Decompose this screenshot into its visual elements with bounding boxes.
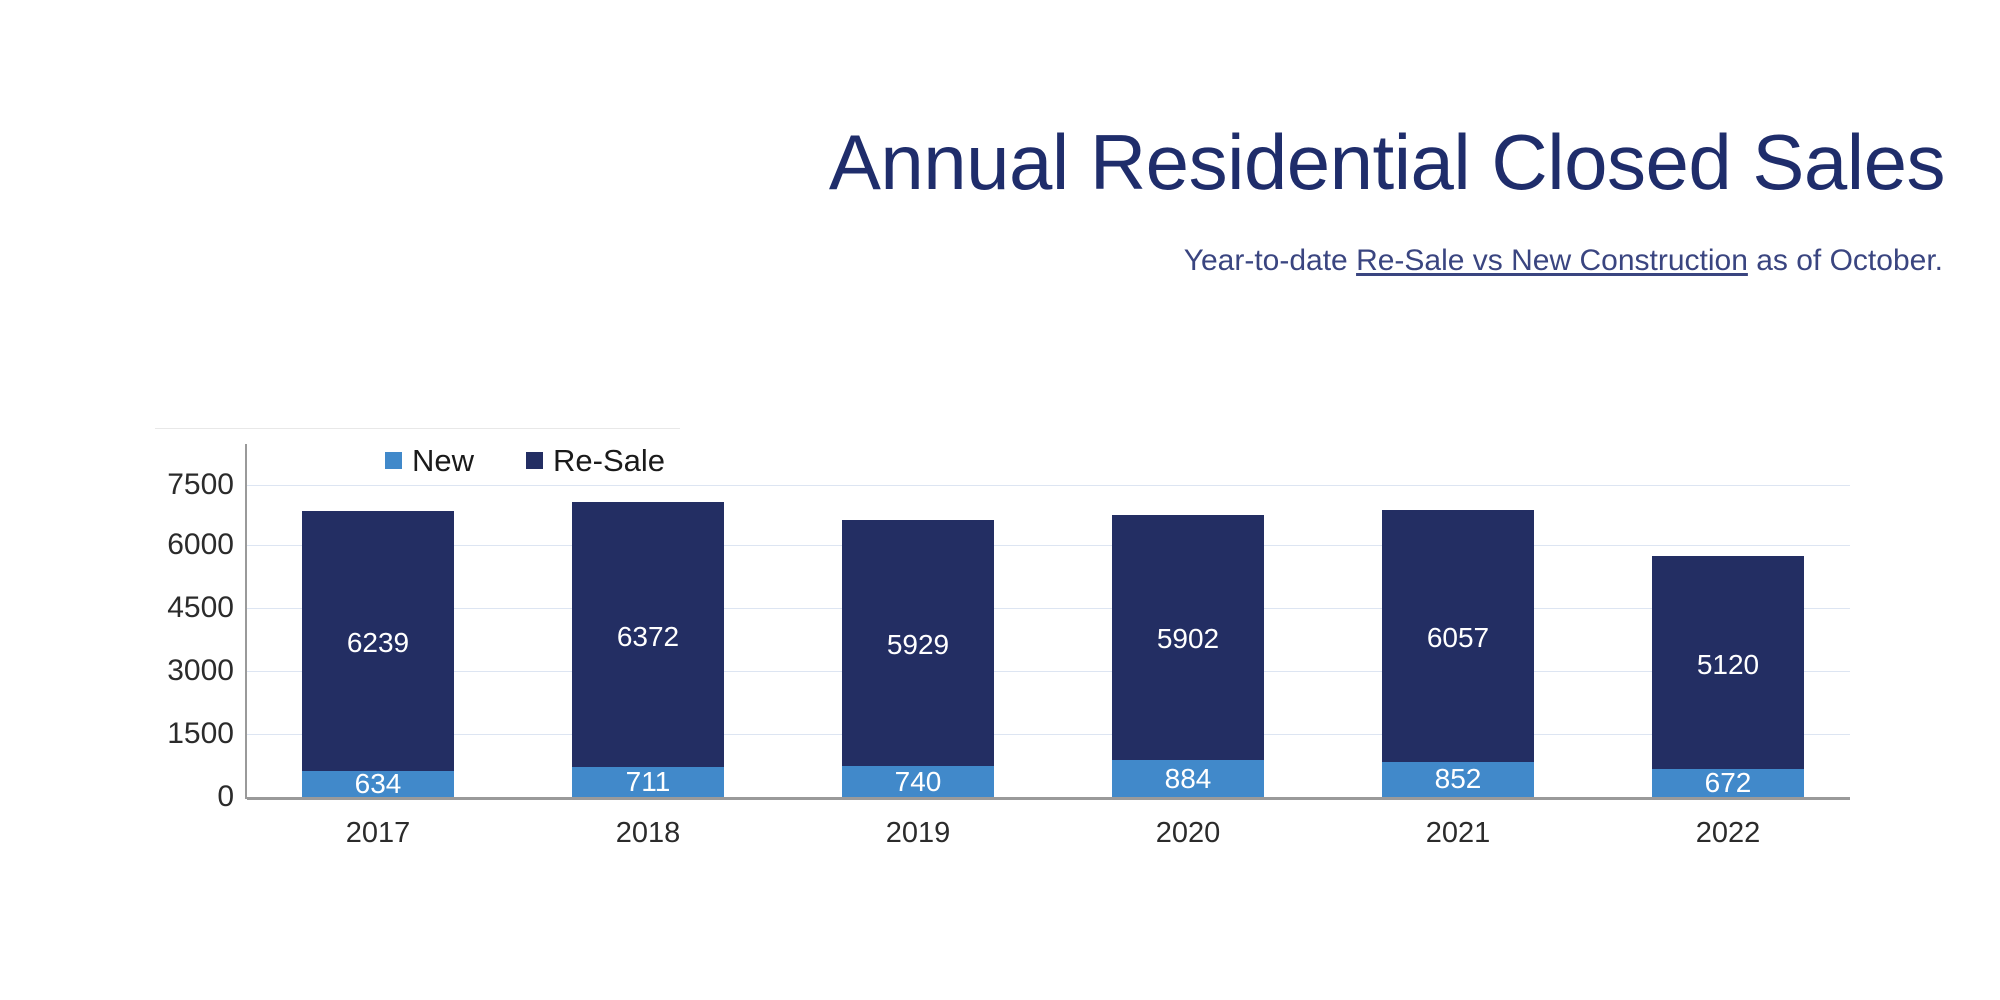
bar-value-resale-2020: 5902 <box>1157 625 1219 653</box>
gridline-3000 <box>247 671 1850 672</box>
bar-segment-resale-2022[interactable]: 5120 <box>1652 556 1804 769</box>
bar-value-new-2022: 672 <box>1705 769 1752 797</box>
bar-value-new-2017: 634 <box>355 770 402 798</box>
y-tick-label-0: 0 <box>217 780 234 814</box>
bar-segment-resale-2020[interactable]: 5902 <box>1112 515 1264 761</box>
bar-value-new-2020: 884 <box>1165 765 1212 793</box>
bar-group-2021[interactable]: 6057852 <box>1382 510 1534 797</box>
x-tick-label-2017: 2017 <box>302 817 454 850</box>
y-tick-label-6000: 6000 <box>167 528 234 562</box>
bar-segment-new-2021[interactable]: 852 <box>1382 762 1534 797</box>
x-tick-label-2020: 2020 <box>1112 817 1264 850</box>
y-tick-label-4500: 4500 <box>167 591 234 625</box>
x-tick-label-2022: 2022 <box>1652 817 1804 850</box>
y-tick-label-3000: 3000 <box>167 654 234 688</box>
bar-value-resale-2021: 6057 <box>1427 624 1489 652</box>
bar-group-2019[interactable]: 5929740 <box>842 520 994 797</box>
y-tick-label-7500: 7500 <box>167 468 234 502</box>
bar-value-new-2021: 852 <box>1435 765 1482 793</box>
gridline-1500 <box>247 734 1850 735</box>
x-tick-label-2019: 2019 <box>842 817 994 850</box>
bar-value-new-2019: 740 <box>895 768 942 796</box>
legend-item-resale[interactable]: Re-Sale <box>526 445 665 476</box>
bar-segment-new-2022[interactable]: 672 <box>1652 769 1804 797</box>
legend-swatch-new-icon <box>385 452 402 469</box>
bar-segment-new-2017[interactable]: 634 <box>302 771 454 797</box>
axis-baseline <box>247 797 1850 800</box>
bar-segment-resale-2021[interactable]: 6057 <box>1382 510 1534 762</box>
bar-segment-resale-2018[interactable]: 6372 <box>572 502 724 767</box>
x-tick-label-2018: 2018 <box>572 817 724 850</box>
bar-value-resale-2022: 5120 <box>1697 651 1759 679</box>
bar-group-2022[interactable]: 5120672 <box>1652 556 1804 797</box>
bar-value-resale-2018: 6372 <box>617 623 679 651</box>
bar-segment-resale-2019[interactable]: 5929 <box>842 520 994 767</box>
bar-group-2018[interactable]: 6372711 <box>572 502 724 797</box>
bar-segment-new-2019[interactable]: 740 <box>842 766 994 797</box>
bar-segment-resale-2017[interactable]: 6239 <box>302 511 454 771</box>
gridline-7500 <box>247 485 1850 486</box>
bar-segment-new-2018[interactable]: 711 <box>572 767 724 797</box>
bar-segment-new-2020[interactable]: 884 <box>1112 760 1264 797</box>
chart-legend: New Re-Sale <box>385 445 665 476</box>
bar-value-new-2018: 711 <box>626 768 671 796</box>
x-tick-label-2021: 2021 <box>1382 817 1534 850</box>
bar-value-resale-2019: 5929 <box>887 631 949 659</box>
gridline-4500 <box>247 608 1850 609</box>
legend-item-new[interactable]: New <box>385 445 474 476</box>
legend-label-resale: Re-Sale <box>553 445 665 476</box>
y-tick-label-1500: 1500 <box>167 717 234 751</box>
bar-group-2020[interactable]: 5902884 <box>1112 515 1264 797</box>
legend-label-new: New <box>412 445 474 476</box>
plot-frame-top-border <box>155 428 680 430</box>
bar-value-resale-2017: 6239 <box>347 629 409 657</box>
stacked-bar-chart: 7500 6000 4500 3000 1500 0 New Re-Sale 6… <box>0 0 2000 1000</box>
y-axis-line <box>245 444 247 799</box>
bar-group-2017[interactable]: 6239634 <box>302 511 454 797</box>
legend-swatch-resale-icon <box>526 452 543 469</box>
gridline-6000 <box>247 545 1850 546</box>
